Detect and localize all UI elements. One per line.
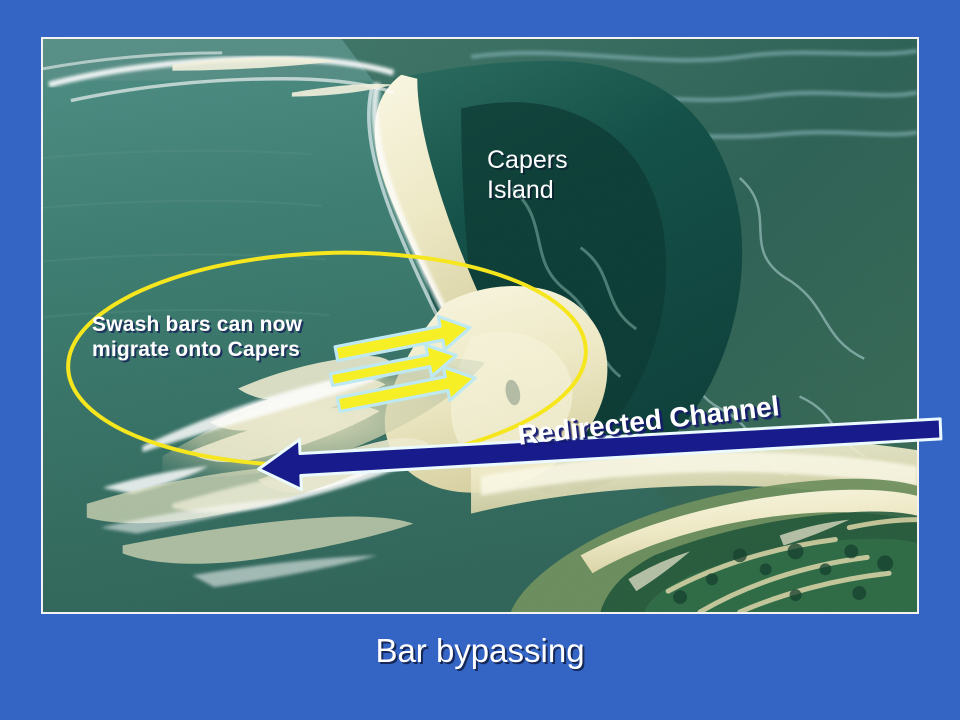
slide-title: Bar bypassing [0, 632, 960, 670]
slide: Capers Island Swash bars can now migrate… [0, 0, 960, 720]
swash-bars-label: Swash bars can now migrate onto Capers [92, 313, 302, 363]
capers-island-label: Capers Island [487, 146, 568, 205]
